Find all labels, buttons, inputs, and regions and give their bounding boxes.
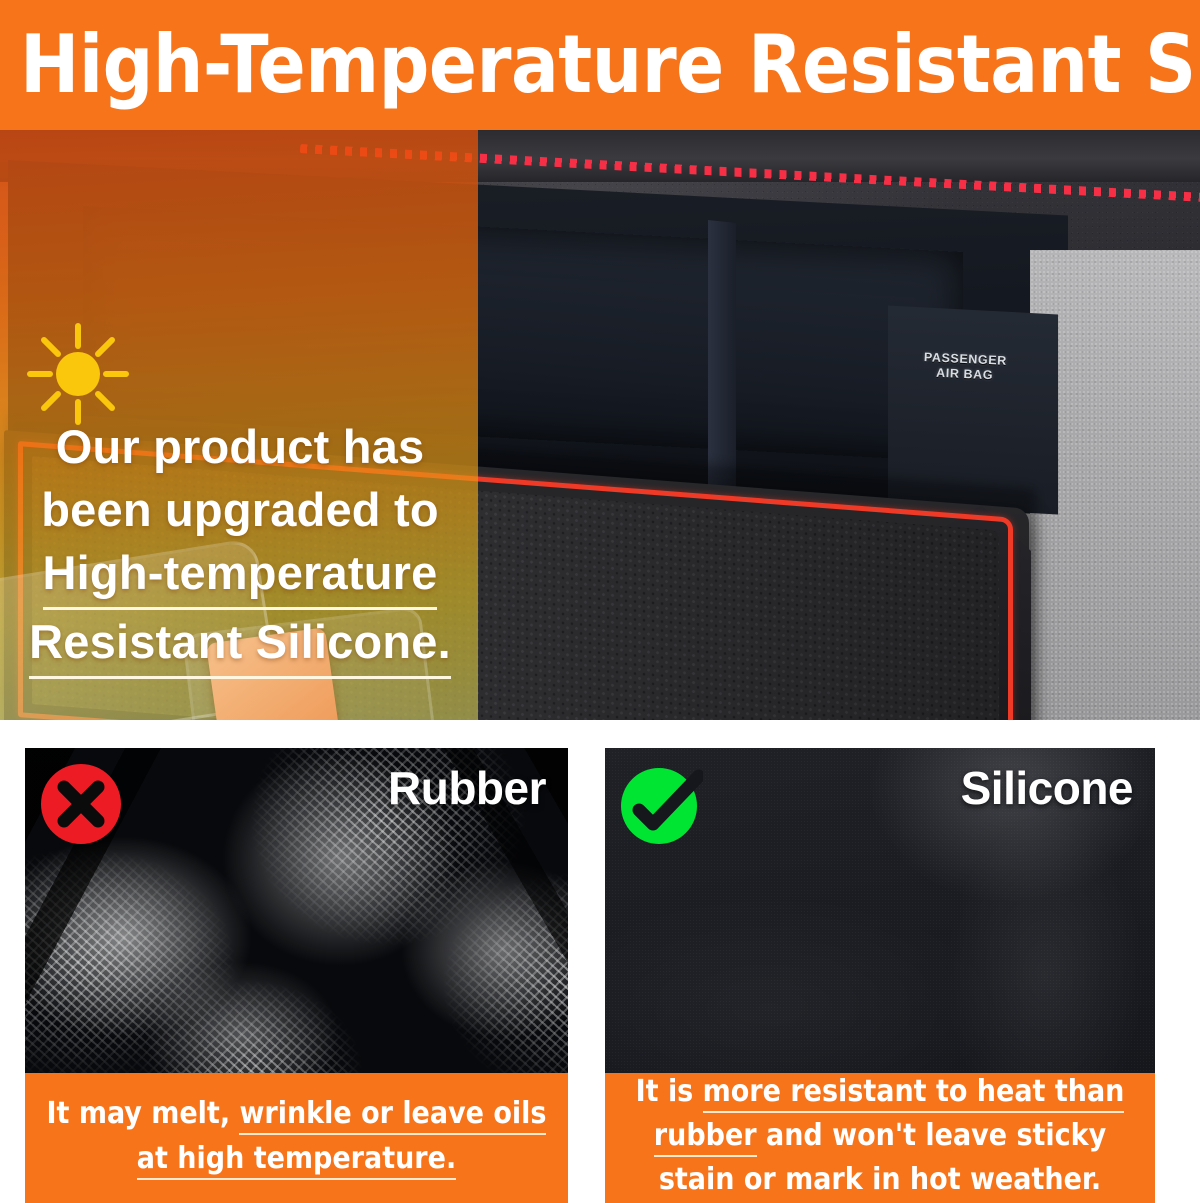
cross-circle-icon — [39, 762, 123, 846]
hero-copy-line-1: Our product has — [14, 415, 466, 478]
rubber-sample-photo: Rubber — [25, 748, 568, 1073]
silicone-caption-band: It is more resistant to heat than rubber… — [605, 1073, 1155, 1203]
hero-copy-line-2: been upgraded to — [14, 478, 466, 541]
hero-copy-line-3: High-temperature — [43, 541, 438, 610]
comparison-card-rubber: Rubber It may melt, wrinkle or leave oil… — [25, 748, 568, 1203]
header-banner: High-Temperature Resistant Silicone — [0, 0, 1200, 130]
hero-copy-line-4: Resistant Silicone. — [29, 610, 451, 679]
silicone-sample-photo: Silicone — [605, 748, 1155, 1073]
comparison-section: Rubber It may melt, wrinkle or leave oil… — [0, 720, 1200, 1203]
comparison-card-silicone: Silicone It is more resistant to heat th… — [605, 748, 1155, 1203]
rubber-caption-band: It may melt, wrinkle or leave oils at hi… — [25, 1073, 568, 1203]
material-label-rubber: Rubber — [388, 760, 546, 816]
hero-section: PASSENGER AIR BAG Our product — [0, 130, 1200, 720]
check-circle-icon — [619, 762, 703, 846]
page-title: High-Temperature Resistant Silicone — [20, 11, 1168, 119]
material-label-silicone: Silicone — [961, 760, 1133, 816]
sun-icon — [24, 320, 132, 428]
passenger-airbag-label: PASSENGER AIR BAG — [904, 349, 1025, 384]
rubber-caption-text: It may melt, wrinkle or leave oils at hi… — [39, 1091, 554, 1181]
hero-copy: Our product has been upgraded to High-te… — [14, 415, 466, 679]
silicone-caption-text: It is more resistant to heat than rubber… — [619, 1070, 1141, 1202]
